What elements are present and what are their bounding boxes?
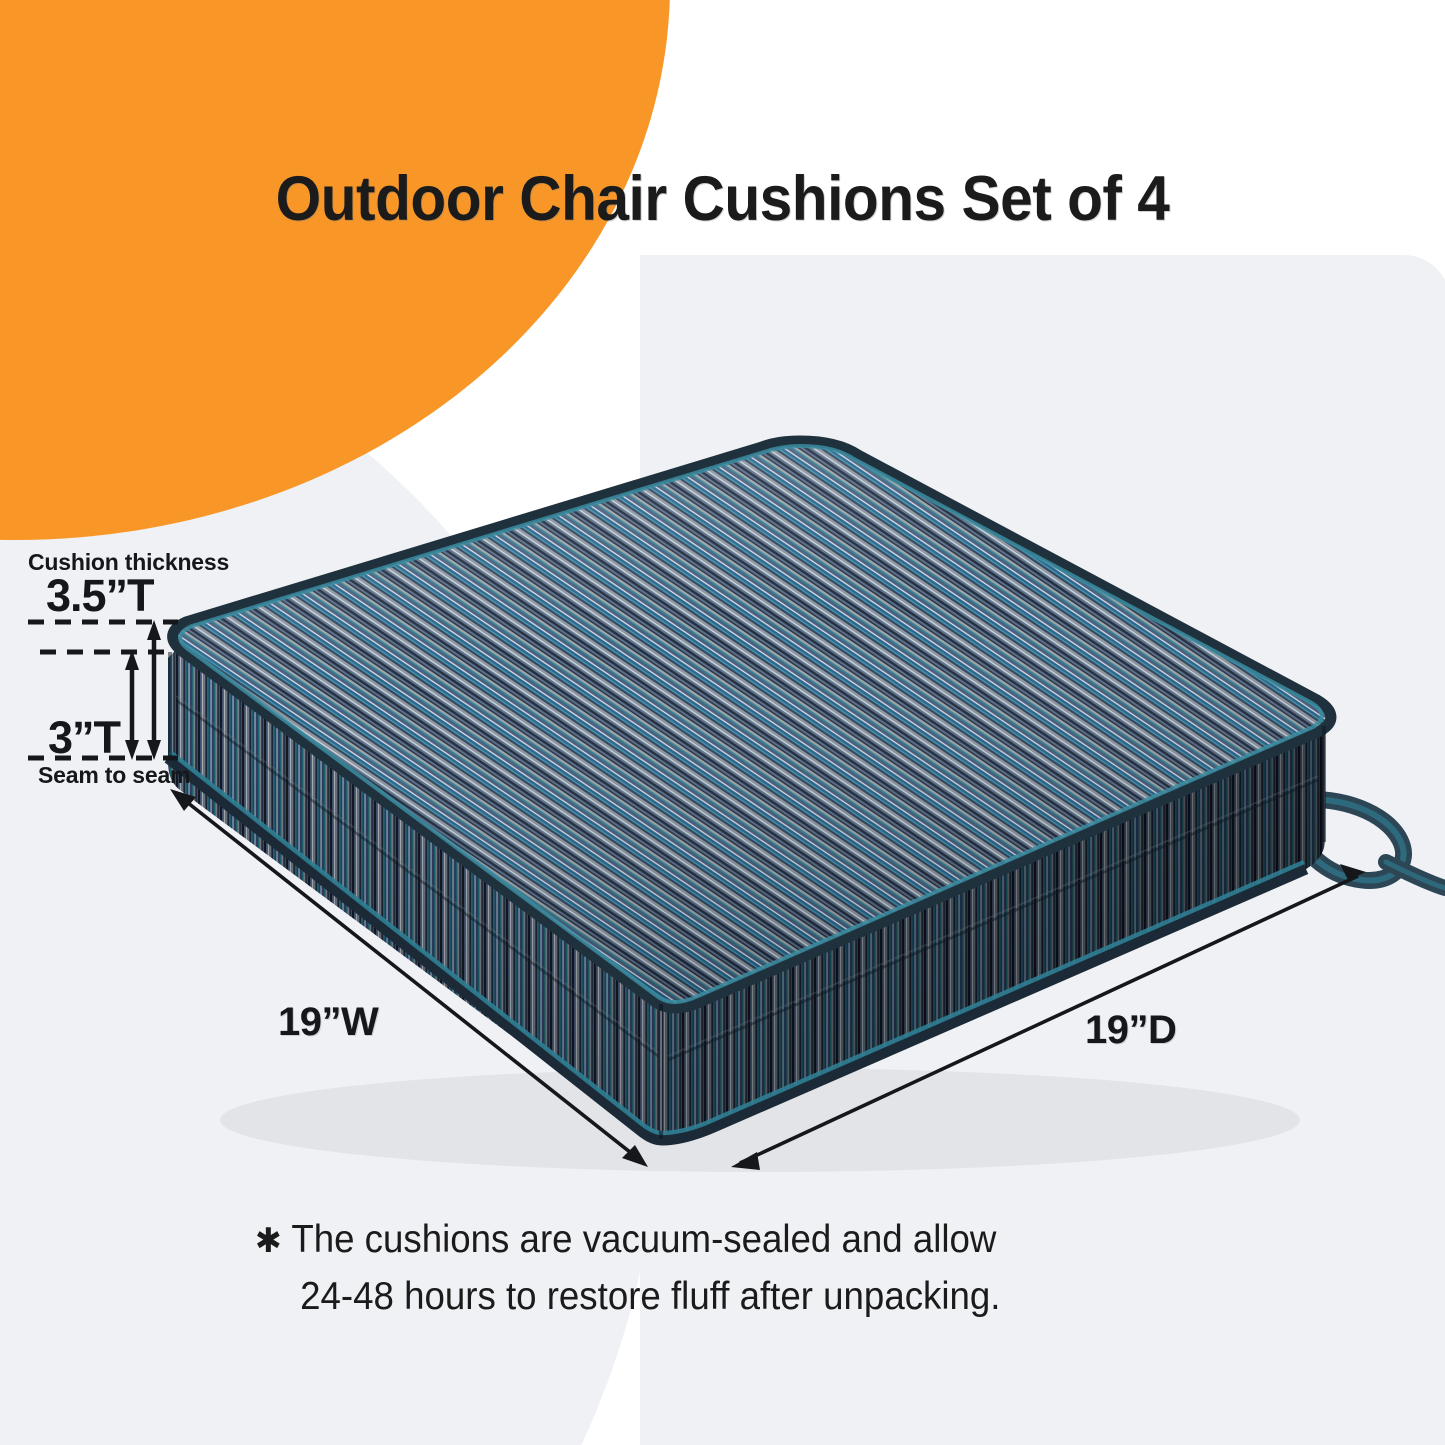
footnote-line-1: The cushions are vacuum-sealed and allow: [291, 1218, 996, 1261]
footnote: ✱ The cushions are vacuum-sealed and all…: [255, 1212, 1157, 1325]
footnote-line-2: 24-48 hours to restore fluff after unpac…: [300, 1269, 1000, 1326]
thickness-seam-value: 3”T: [48, 712, 120, 764]
thickness-overall-value: 3.5”T: [46, 570, 154, 622]
seam-to-seam-caption: Seam to seam: [38, 762, 190, 789]
infographic-canvas: Outdoor Chair Cushions Set of 4: [0, 0, 1445, 1445]
depth-dimension-label: 19”D: [1085, 1008, 1176, 1053]
width-dimension-label: 19”W: [278, 1000, 378, 1045]
footnote-asterisk-icon: ✱: [255, 1222, 282, 1260]
